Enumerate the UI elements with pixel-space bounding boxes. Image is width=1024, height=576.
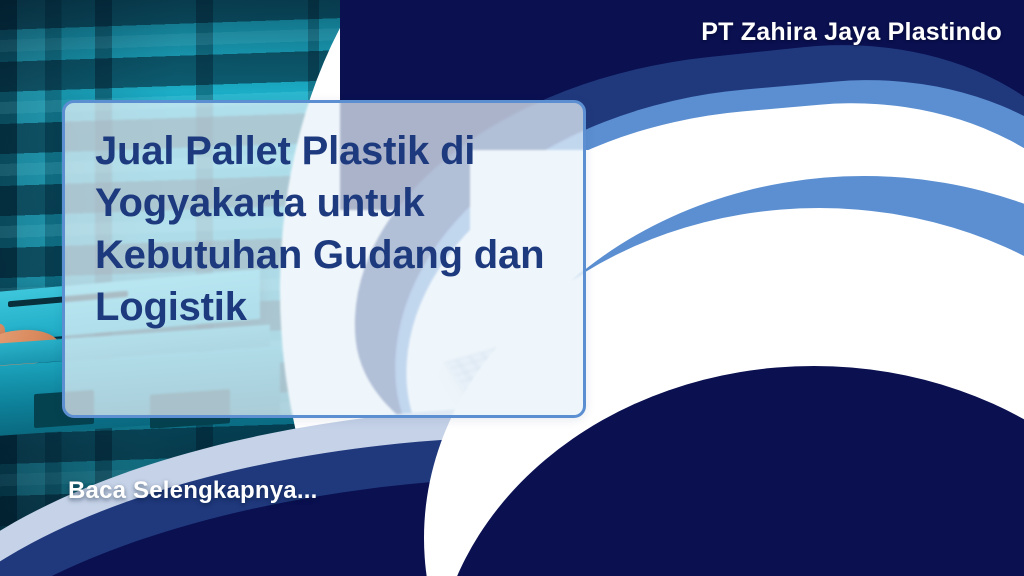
company-name: PT Zahira Jaya Plastindo bbox=[701, 18, 1002, 47]
promo-banner: PT Zahira Jaya Plastindo Jual Pallet Pla… bbox=[0, 0, 1024, 576]
headline-box: Jual Pallet Plastik di Yogyakarta untuk … bbox=[62, 100, 586, 418]
page-title: Jual Pallet Plastik di Yogyakarta untuk … bbox=[95, 125, 553, 333]
read-more-link[interactable]: Baca Selengkapnya... bbox=[68, 477, 317, 505]
